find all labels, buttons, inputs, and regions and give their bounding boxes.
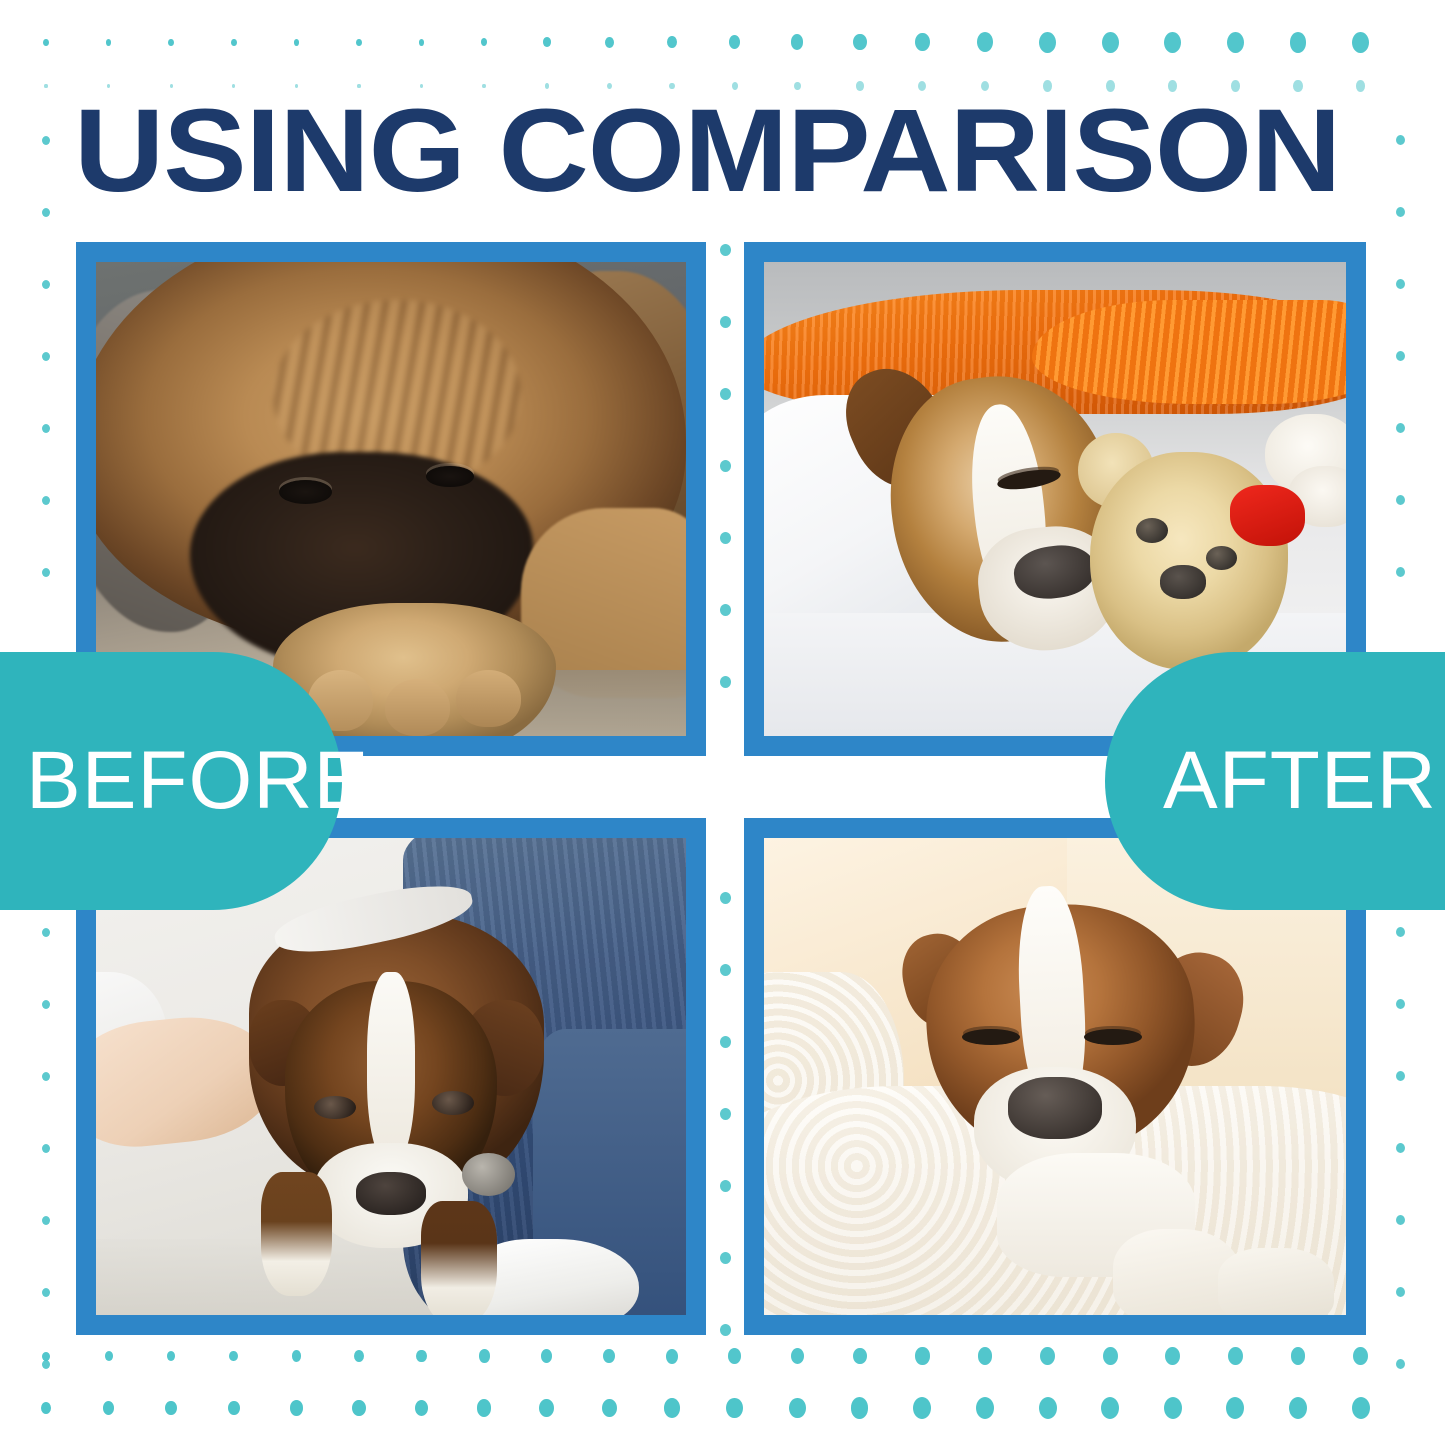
decor-dot xyxy=(294,39,300,46)
decor-dot xyxy=(43,39,49,46)
decor-dot xyxy=(1039,1397,1057,1419)
decor-dot xyxy=(720,1252,731,1264)
decor-dot xyxy=(42,136,50,145)
decor-dot xyxy=(603,1349,615,1363)
decor-dot xyxy=(1291,1347,1306,1365)
decor-dot xyxy=(42,208,50,217)
decor-dot xyxy=(1290,32,1307,53)
decor-dot xyxy=(228,1401,240,1416)
decor-dot xyxy=(851,1397,868,1418)
decor-dot xyxy=(1356,80,1365,92)
decor-dot xyxy=(42,352,50,361)
decor-dot xyxy=(419,39,425,46)
decor-dot xyxy=(726,1398,742,1418)
decor-dot xyxy=(41,1402,52,1415)
decor-dot xyxy=(1396,1215,1405,1225)
decor-dot xyxy=(853,1348,867,1365)
decor-dot xyxy=(666,1349,678,1364)
decor-dot xyxy=(1228,1347,1243,1365)
decor-dot xyxy=(290,1400,303,1415)
decor-dot xyxy=(1396,1287,1405,1297)
decor-dot xyxy=(42,928,50,937)
decor-dot xyxy=(791,34,803,49)
badge-after-label: AFTER xyxy=(1163,734,1437,828)
decor-dot xyxy=(720,1036,731,1048)
decor-dot xyxy=(791,1348,804,1364)
decor-dot xyxy=(729,35,740,49)
decor-dot xyxy=(720,676,731,688)
decor-dot xyxy=(720,964,731,976)
decor-dot xyxy=(42,1072,50,1081)
badge-before-label: BEFORE xyxy=(26,734,369,828)
decor-dot xyxy=(915,1347,929,1364)
decor-dot xyxy=(1396,1143,1405,1153)
decor-dot xyxy=(976,1397,994,1419)
decor-dot xyxy=(168,39,174,46)
decor-dot xyxy=(106,39,112,46)
decor-dot xyxy=(167,1351,175,1361)
decor-dot xyxy=(720,1180,731,1192)
decor-dot xyxy=(352,1400,365,1416)
decor-dot xyxy=(539,1399,554,1417)
decor-dot xyxy=(42,280,50,289)
decor-dot xyxy=(481,38,487,46)
decor-dot xyxy=(1040,1347,1055,1365)
decor-dot xyxy=(477,1399,491,1416)
decor-dot xyxy=(165,1401,177,1415)
decor-dot xyxy=(543,37,551,47)
decor-dot xyxy=(720,604,731,616)
decor-dot xyxy=(1396,999,1405,1009)
decor-dot xyxy=(1226,1397,1244,1419)
badge-before[interactable]: BEFORE xyxy=(0,652,342,910)
decor-dot xyxy=(416,1350,426,1363)
decor-dot xyxy=(1103,1347,1118,1365)
decor-dot xyxy=(42,1288,50,1297)
decor-dot xyxy=(231,39,237,46)
decor-dot xyxy=(915,33,930,51)
decor-dot xyxy=(42,1216,50,1225)
decor-dot xyxy=(728,1348,741,1364)
decor-dot xyxy=(1164,32,1181,53)
decor-dot xyxy=(664,1398,680,1417)
decor-dot xyxy=(44,84,47,88)
decor-dot xyxy=(789,1398,806,1419)
decor-dot xyxy=(1227,32,1244,53)
decor-dot xyxy=(720,1324,731,1336)
decor-dot xyxy=(1396,1071,1405,1081)
decor-dot xyxy=(42,1360,50,1369)
decor-dot xyxy=(720,1108,731,1120)
decor-dot xyxy=(1396,423,1405,433)
decor-dot xyxy=(913,1397,931,1419)
decor-dot xyxy=(720,460,731,472)
decor-dot xyxy=(720,244,731,256)
decor-dot xyxy=(1352,32,1369,53)
decor-dot xyxy=(720,892,731,904)
decor-dot xyxy=(42,424,50,433)
decor-dot xyxy=(356,39,362,46)
decor-dot xyxy=(292,1350,301,1361)
decor-dot xyxy=(1396,351,1405,361)
decor-dot xyxy=(541,1349,552,1363)
decor-dot xyxy=(978,1347,993,1365)
decor-dot xyxy=(42,568,50,577)
decor-dot xyxy=(1396,1359,1405,1369)
decor-dot xyxy=(1396,279,1405,289)
decor-dot xyxy=(977,32,993,52)
decor-dot xyxy=(42,1352,49,1361)
decor-dot xyxy=(605,37,614,48)
decor-dot xyxy=(720,532,731,544)
decor-dot xyxy=(720,316,731,328)
page-title: USING COMPARISON xyxy=(74,96,1445,206)
decor-dot xyxy=(42,1144,50,1153)
decor-dot xyxy=(853,34,867,51)
decor-dot xyxy=(354,1350,364,1362)
decor-dot xyxy=(602,1399,617,1418)
decor-dot xyxy=(1289,1397,1307,1419)
decor-dot xyxy=(42,1000,50,1009)
decor-dot xyxy=(667,36,677,48)
decor-dot xyxy=(479,1349,490,1362)
decor-dot xyxy=(1164,1397,1182,1419)
decor-dot xyxy=(1101,1397,1119,1419)
decor-dot xyxy=(1396,207,1405,217)
decor-dot xyxy=(1396,495,1405,505)
decor-dot xyxy=(229,1351,238,1362)
decor-dot xyxy=(1352,1397,1370,1419)
decor-dot xyxy=(103,1401,114,1415)
decor-dot xyxy=(1165,1347,1180,1365)
decor-dot xyxy=(105,1351,113,1361)
poster-canvas: USING COMPARISON xyxy=(0,0,1445,1445)
decor-dot xyxy=(1353,1347,1368,1365)
decor-dot xyxy=(42,496,50,505)
badge-after[interactable]: AFTER xyxy=(1105,652,1445,910)
decor-dot xyxy=(415,1400,429,1417)
decor-dot xyxy=(1396,927,1405,937)
decor-dot xyxy=(1102,32,1119,53)
decor-dot xyxy=(720,388,731,400)
decor-dot xyxy=(1396,567,1405,577)
decor-dot xyxy=(1039,32,1056,53)
